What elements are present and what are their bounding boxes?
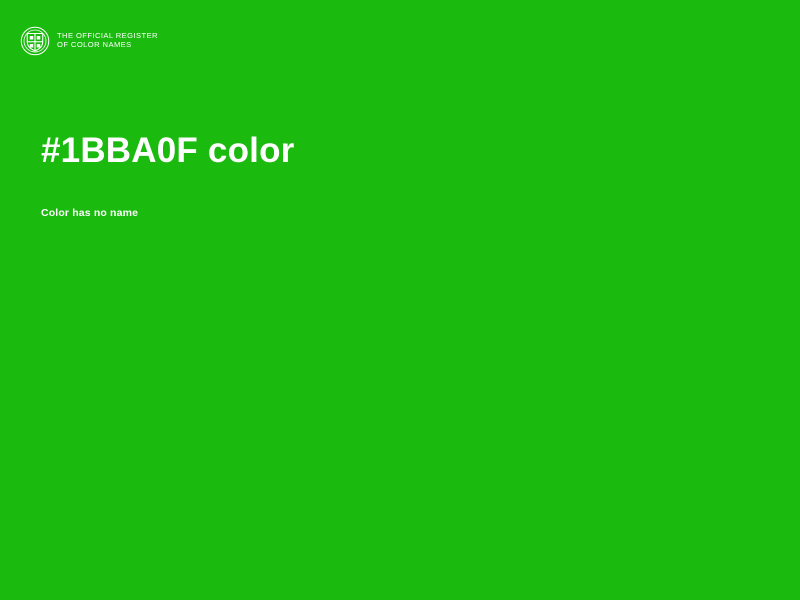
color-detail-page: THE OFFICIAL REGISTER OF COLOR NAMES #1B… xyxy=(0,0,800,600)
brand-wordmark: THE OFFICIAL REGISTER OF COLOR NAMES xyxy=(57,32,158,50)
page-title: #1BBA0F color xyxy=(41,128,760,174)
color-info-block: #1BBA0F color Color has no name xyxy=(41,128,760,220)
brand-lockup[interactable]: THE OFFICIAL REGISTER OF COLOR NAMES xyxy=(20,26,158,56)
official-register-seal-icon xyxy=(20,26,50,56)
brand-wordmark-line-2: OF COLOR NAMES xyxy=(57,41,158,50)
color-name-status: Color has no name xyxy=(41,174,760,220)
